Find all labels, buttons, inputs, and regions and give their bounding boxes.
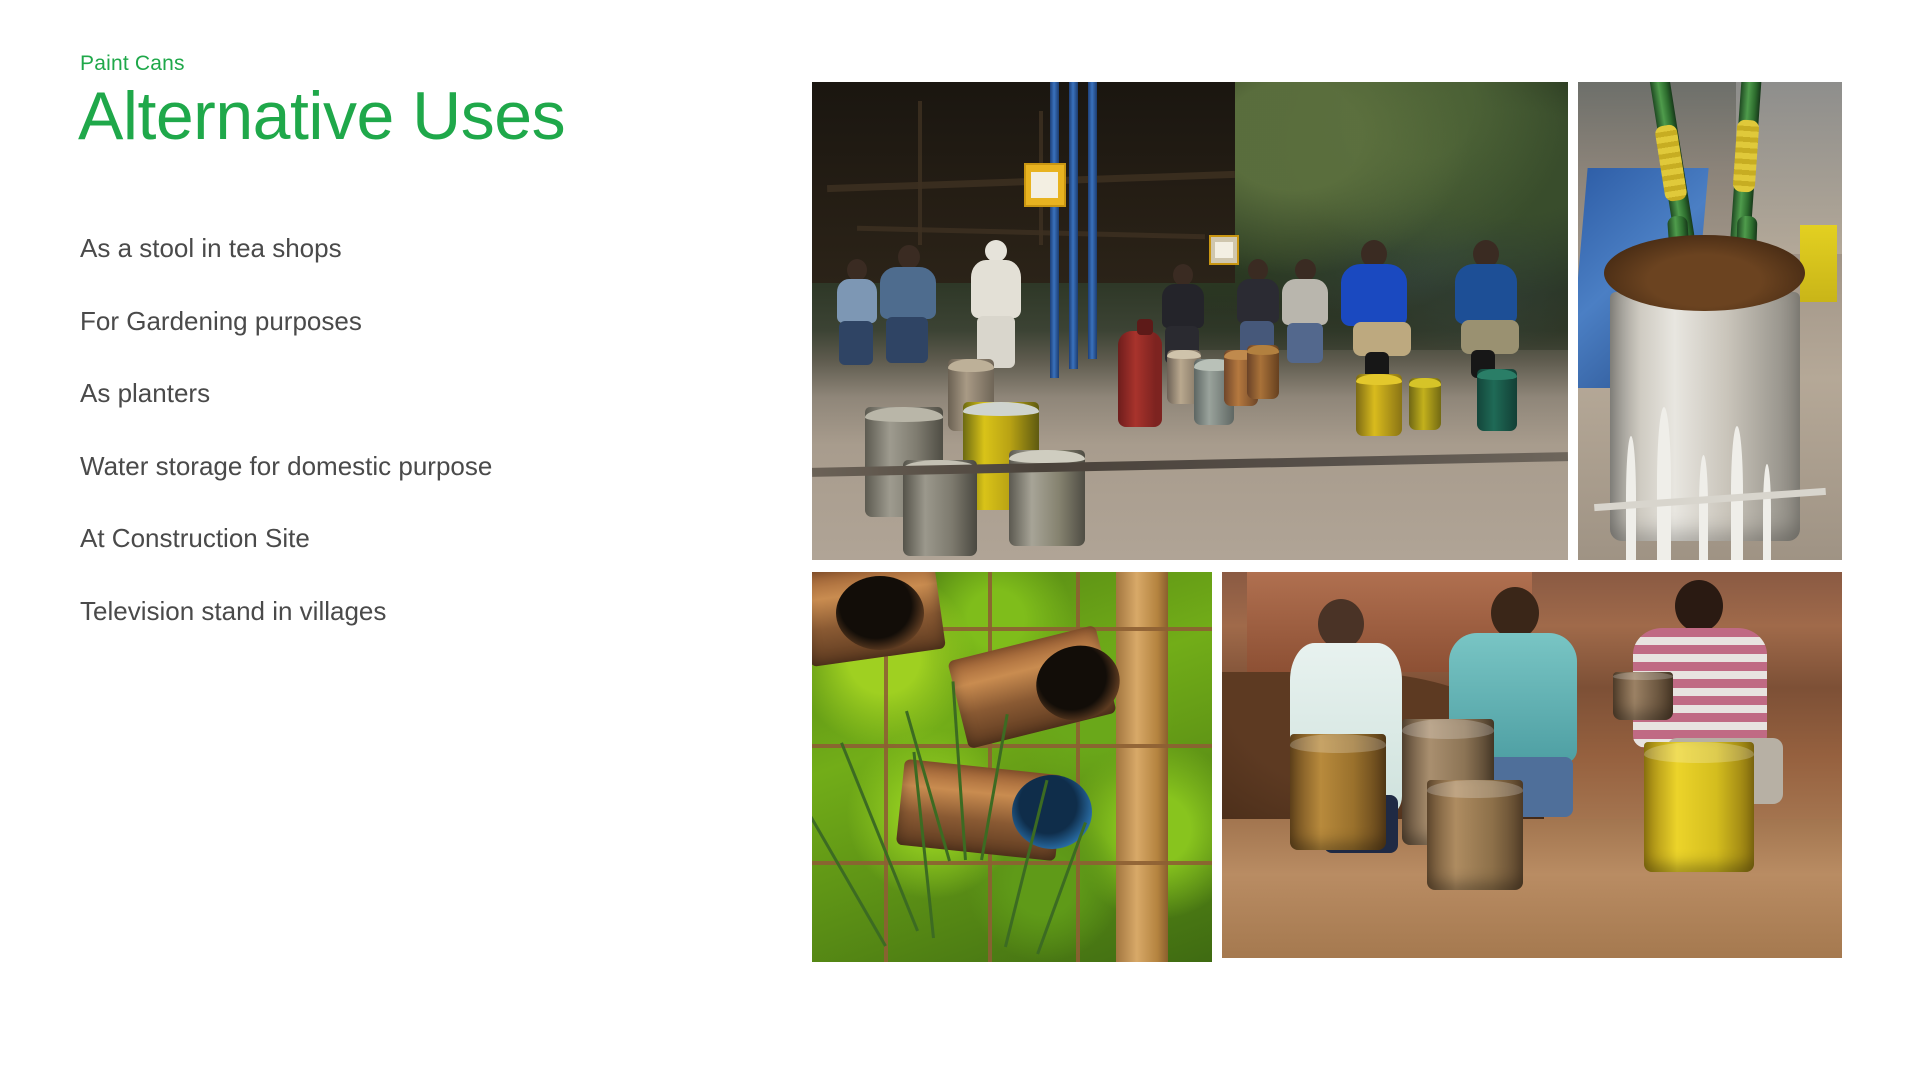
eyebrow-label: Paint Cans [80,52,718,75]
alternative-uses-list: As a stool in tea shops For Gardening pu… [80,232,780,627]
list-item: Water storage for domestic purpose [80,450,780,483]
slide-heading-block: Paint Cans Alternative Uses [78,52,718,152]
photo-paint-can-planter [1578,82,1842,560]
list-item: As a stool in tea shops [80,232,780,265]
photo-rusty-can-garden-planters [812,572,1212,962]
list-item: For Gardening purposes [80,305,780,338]
photo-seated-on-paint-cans [1222,572,1842,958]
page-title: Alternative Uses [78,81,718,152]
photo-tea-shop-stools [812,82,1568,560]
list-item: Television stand in villages [80,595,780,628]
list-item: At Construction Site [80,522,780,555]
photo-collage [812,82,1842,1002]
slide-canvas: Paint Cans Alternative Uses As a stool i… [0,0,1920,1080]
list-item: As planters [80,377,780,410]
